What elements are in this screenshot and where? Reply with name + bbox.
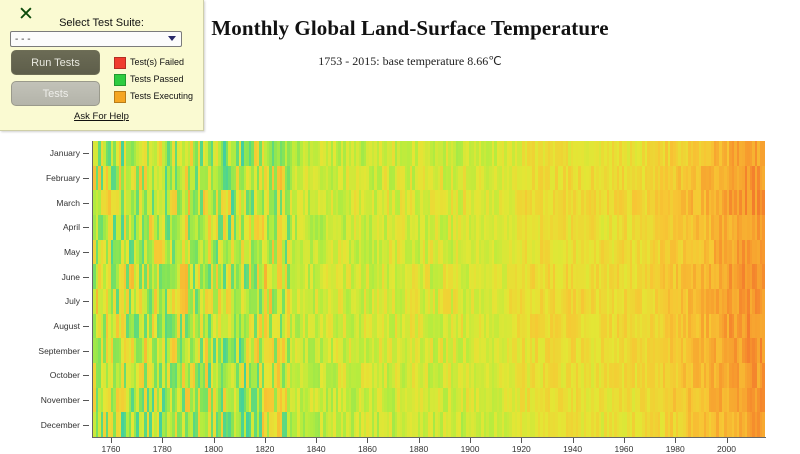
heatmap-grid[interactable] [93, 141, 765, 437]
select-test-suite-label: Select Test Suite: [0, 17, 203, 29]
heatmap-row [93, 363, 765, 388]
heatmap-cell[interactable] [762, 412, 765, 437]
x-tick-label: 1780 [153, 444, 172, 454]
x-tick-mark [624, 438, 625, 443]
y-tick-mark [83, 351, 89, 352]
legend-label: Test(s) Failed [130, 56, 184, 68]
y-tick-mark [83, 301, 89, 302]
ask-for-help-link[interactable]: Ask For Help [0, 111, 203, 122]
heatmap-row [93, 141, 765, 166]
y-tick-label: January [50, 148, 80, 158]
y-tick-label: October [50, 370, 80, 380]
x-tick-mark [675, 438, 676, 443]
run-tests-button[interactable]: Run Tests [11, 50, 100, 75]
y-tick-mark [83, 178, 89, 179]
y-tick-label: March [56, 198, 80, 208]
heatmap-cell[interactable] [762, 166, 765, 191]
heatmap-cell[interactable] [762, 190, 765, 215]
y-tick-mark [83, 425, 89, 426]
y-tick-mark [83, 326, 89, 327]
heatmap-cell[interactable] [762, 388, 765, 413]
y-tick-label: November [41, 395, 80, 405]
heatmap-row [93, 412, 765, 437]
heatmap-cell[interactable] [762, 363, 765, 388]
x-tick-mark [265, 438, 266, 443]
legend-swatch-icon [114, 91, 126, 103]
y-axis: JanuaryFebruaryMarchAprilMayJuneJulyAugu… [0, 141, 93, 437]
heatmap-row [93, 264, 765, 289]
heatmap-row [93, 215, 765, 240]
y-tick-label: July [65, 296, 80, 306]
x-tick-label: 1920 [512, 444, 531, 454]
test-runner-panel: ✕ Select Test Suite: - - - Run Tests Tes… [0, 0, 204, 131]
y-tick-mark [83, 277, 89, 278]
chart-subtitle: 1753 - 2015: base temperature 8.66℃ [200, 54, 620, 69]
y-tick-label: December [41, 420, 80, 430]
x-tick-label: 2000 [717, 444, 736, 454]
heatmap-row [93, 166, 765, 191]
x-tick-label: 1960 [614, 444, 633, 454]
heatmap-cell[interactable] [762, 141, 765, 166]
y-tick-label: August [54, 321, 80, 331]
y-tick-label: April [63, 222, 80, 232]
x-tick-label: 1940 [563, 444, 582, 454]
y-tick-label: February [46, 173, 80, 183]
x-tick-mark [214, 438, 215, 443]
legend-label: Tests Passed [130, 73, 184, 85]
heatmap-row [93, 388, 765, 413]
heatmap-cell[interactable] [762, 314, 765, 339]
x-tick-mark [521, 438, 522, 443]
heatmap-row [93, 338, 765, 363]
x-tick-label: 1820 [255, 444, 274, 454]
y-tick-label: June [62, 272, 80, 282]
heatmap-cell[interactable] [762, 215, 765, 240]
heatmap-row [93, 314, 765, 339]
x-axis-line [92, 437, 766, 438]
x-tick-label: 1900 [461, 444, 480, 454]
y-tick-mark [83, 203, 89, 204]
x-tick-mark [162, 438, 163, 443]
legend-swatch-icon [114, 57, 126, 69]
y-tick-mark [83, 400, 89, 401]
x-tick-label: 1980 [666, 444, 685, 454]
heatmap-row [93, 190, 765, 215]
x-tick-mark [367, 438, 368, 443]
x-tick-mark [573, 438, 574, 443]
x-tick-mark [419, 438, 420, 443]
x-tick-mark [111, 438, 112, 443]
x-tick-label: 1800 [204, 444, 223, 454]
x-tick-label: 1860 [358, 444, 377, 454]
y-tick-mark [83, 153, 89, 154]
x-tick-mark [470, 438, 471, 443]
x-tick-label: 1880 [409, 444, 428, 454]
y-tick-mark [83, 227, 89, 228]
y-tick-mark [83, 375, 89, 376]
legend-swatch-icon [114, 74, 126, 86]
heatmap-cell[interactable] [762, 338, 765, 363]
tests-button[interactable]: Tests [11, 81, 100, 106]
x-tick-label: 1840 [307, 444, 326, 454]
legend-label: Tests Executing [130, 90, 193, 102]
y-tick-label: September [38, 346, 80, 356]
x-tick-mark [316, 438, 317, 443]
heatmap-row [93, 240, 765, 265]
heatmap-row [93, 289, 765, 314]
y-tick-mark [83, 252, 89, 253]
y-tick-label: May [64, 247, 80, 257]
plot-area[interactable] [93, 141, 765, 437]
heatmap-cell[interactable] [762, 240, 765, 265]
page-title: Monthly Global Land-Surface Temperature [200, 16, 620, 41]
heatmap-cell[interactable] [762, 289, 765, 314]
x-tick-label: 1760 [101, 444, 120, 454]
x-tick-mark [727, 438, 728, 443]
test-suite-select[interactable]: - - - [10, 31, 182, 47]
heatmap-cell[interactable] [762, 264, 765, 289]
